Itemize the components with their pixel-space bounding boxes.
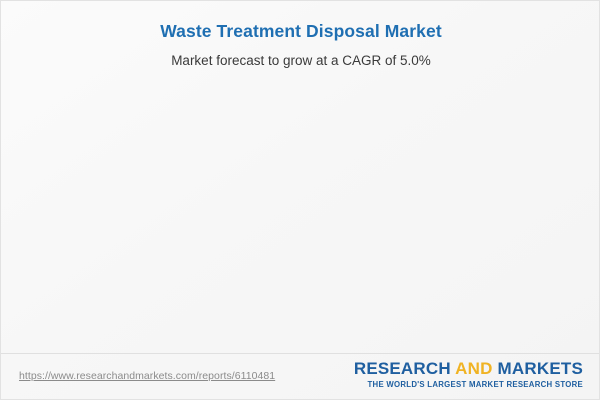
logo-tagline: THE WORLD'S LARGEST MARKET RESEARCH STOR… (354, 380, 583, 389)
infographic-card: Waste Treatment Disposal Market Market f… (0, 0, 600, 400)
logo-word-and: AND (455, 359, 492, 378)
logo-wordmark: RESEARCH AND MARKETS (354, 360, 583, 378)
logo-word-markets: MARKETS (498, 359, 583, 378)
research-and-markets-logo[interactable]: RESEARCH AND MARKETS THE WORLD'S LARGEST… (354, 360, 583, 389)
logo-word-research: RESEARCH (354, 359, 451, 378)
source-url-link[interactable]: https://www.researchandmarkets.com/repor… (19, 370, 275, 382)
footer-divider (1, 353, 600, 354)
plot-area: USD 2.8 Billion 2024 USD 3.7 Billion (1, 1, 600, 349)
